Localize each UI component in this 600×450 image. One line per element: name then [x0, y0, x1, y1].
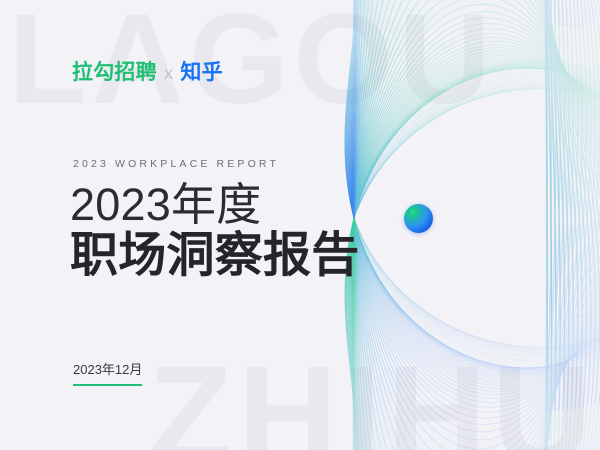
watermark-zhihu: ZHIHU: [148, 346, 597, 450]
origin-node-icon: [404, 204, 433, 233]
report-cover: LAGOU ZHIHU: [0, 0, 600, 450]
wireframe-sphere-graphic: [352, 25, 600, 415]
brand-zhihu-label: 知乎: [180, 62, 222, 83]
title-line-one: 2023年度: [70, 181, 359, 229]
title-line-two: 职场洞察报告: [70, 230, 359, 282]
brand-separator-icon: X: [164, 67, 174, 81]
brand-lagou-label: 拉勾招聘: [72, 62, 157, 83]
brand-lockup: 拉勾招聘 X 知乎: [72, 62, 223, 83]
publish-date: 2023年12月: [73, 360, 142, 386]
page-title: 2023年度 职场洞察报告: [70, 181, 359, 282]
eyebrow-text: 2023 WORKPLACE REPORT: [73, 158, 279, 170]
